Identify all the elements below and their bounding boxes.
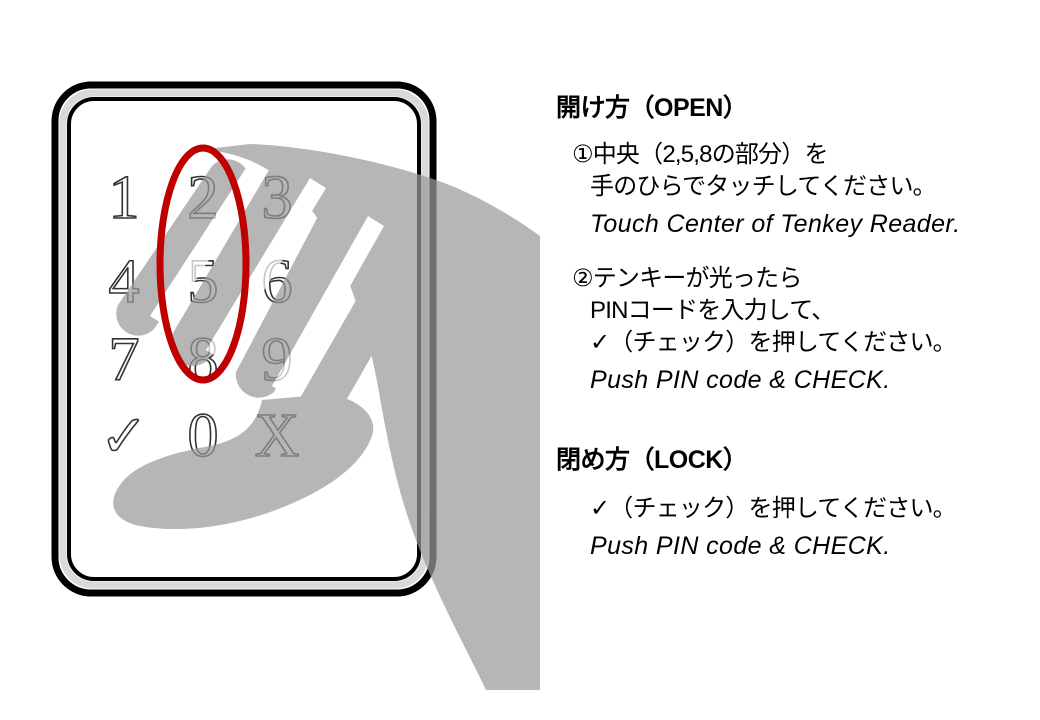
instruction-panel: 開け方（OPEN） ①中央（2,5,8の部分）を 手のひらでタッチしてください。… bbox=[540, 0, 1040, 720]
open-step-2-line-3: ✓（チェック）を押してください。 bbox=[590, 322, 956, 357]
tenkey-reader-illustration: 1 2 3 4 5 6 7 8 9 ✓ 0 X bbox=[0, 0, 540, 720]
lock-section-heading: 閉め方（LOCK） bbox=[556, 440, 747, 476]
open-step-2-line-2: PINコードを入力して、 bbox=[590, 290, 835, 325]
key-1[interactable]: 1 bbox=[109, 164, 140, 232]
open-step-1-line-1: ①中央（2,5,8の部分）を bbox=[572, 134, 828, 169]
lock-english: Push PIN code & CHECK. bbox=[590, 532, 891, 561]
open-step-2-english: Push PIN code & CHECK. bbox=[590, 366, 891, 395]
key-check[interactable]: ✓ bbox=[100, 404, 149, 469]
illustration-page: 1 2 3 4 5 6 7 8 9 ✓ 0 X bbox=[0, 0, 1040, 720]
lock-line-1: ✓（チェック）を押してください。 bbox=[590, 488, 956, 523]
open-section-heading: 開け方（OPEN） bbox=[556, 88, 747, 124]
tenkey-reader-svg: 1 2 3 4 5 6 7 8 9 ✓ 0 X bbox=[0, 0, 540, 720]
open-step-1-english: Touch Center of Tenkey Reader. bbox=[590, 210, 961, 239]
open-step-1-line-2: 手のひらでタッチしてください。 bbox=[590, 166, 936, 201]
key-7[interactable]: 7 bbox=[109, 326, 140, 394]
open-step-2-line-1: ②テンキーが光ったら bbox=[572, 258, 802, 293]
